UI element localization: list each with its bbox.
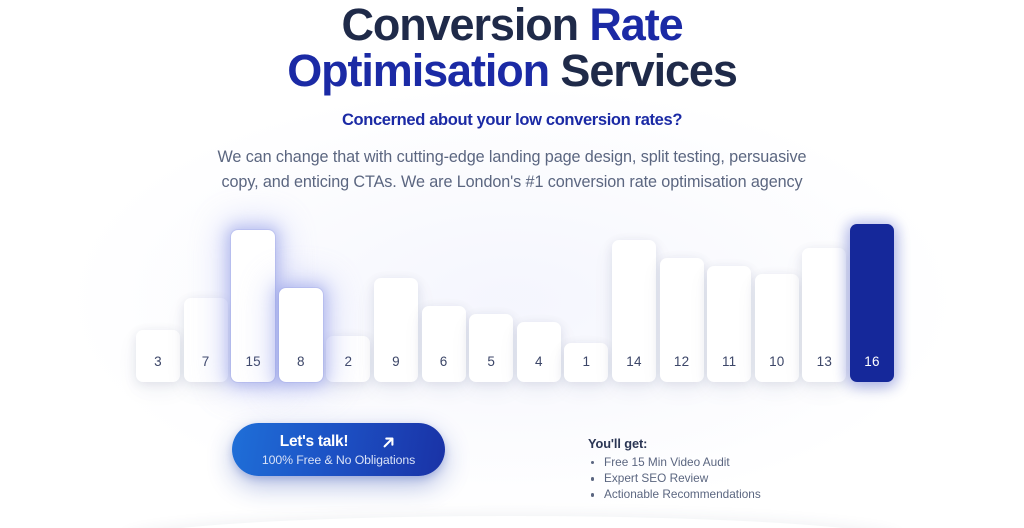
bar-12[interactable]: 12: [660, 258, 704, 382]
subheadline: Concerned about your low conversion rate…: [0, 111, 1024, 130]
bar-label: 10: [755, 354, 799, 369]
bar-label: 12: [660, 354, 704, 369]
arrow-up-right-icon: [380, 434, 397, 451]
headline-part-services: Services: [560, 45, 736, 96]
bar-11[interactable]: 14: [612, 240, 656, 382]
bar-7[interactable]: 6: [422, 306, 466, 382]
bar-label: 14: [612, 354, 656, 369]
bar-label: 8: [279, 354, 323, 369]
section-bottom-edge: [120, 516, 904, 528]
bar-label: 6: [422, 354, 466, 369]
bar-2[interactable]: 7: [184, 298, 228, 382]
bar-label: 4: [517, 354, 561, 369]
headline-line-2: Optimisation Services: [0, 48, 1024, 94]
hero-section: Conversion Rate Optimisation Services Co…: [0, 0, 1024, 528]
bar-3[interactable]: 15: [231, 230, 275, 382]
bar-label: 7: [184, 354, 228, 369]
lets-talk-button[interactable]: Let's talk! 100% Free & No Obligations: [232, 423, 445, 476]
bar-14[interactable]: 10: [755, 274, 799, 382]
headline-part-optimisation: Optimisation: [287, 45, 560, 96]
bar-label: 3: [136, 354, 180, 369]
list-item: Free 15 Min Video Audit: [588, 456, 818, 469]
bar-6[interactable]: 9: [374, 278, 418, 382]
cta-subtitle: 100% Free & No Obligations: [232, 453, 445, 467]
bar-label: 5: [469, 354, 513, 369]
bar-label: 1: [564, 354, 608, 369]
bar-16[interactable]: 16: [850, 224, 894, 382]
benefits-block: You'll get: Free 15 Min Video Audit Expe…: [588, 436, 818, 505]
headline-part-conversion: Conversion: [341, 0, 589, 50]
bar-label: 2: [326, 354, 370, 369]
cta-title-row: Let's talk!: [232, 433, 445, 451]
bar-1[interactable]: 3: [136, 330, 180, 382]
bar-chart-plot-area: 37158296541141211101316: [136, 218, 850, 382]
bar-label: 9: [374, 354, 418, 369]
cta-title: Let's talk!: [280, 433, 348, 451]
list-item: Expert SEO Review: [588, 472, 818, 485]
headline-part-rate: Rate: [589, 0, 682, 50]
benefits-list: Free 15 Min Video Audit Expert SEO Revie…: [588, 456, 818, 502]
list-item: Actionable Recommendations: [588, 488, 818, 501]
bar-label: 15: [231, 354, 275, 369]
benefits-title: You'll get:: [588, 436, 818, 451]
bar-4[interactable]: 8: [279, 288, 323, 382]
bar-13[interactable]: 11: [707, 266, 751, 382]
bar-10[interactable]: 1: [564, 343, 608, 382]
bar-label: 11: [707, 354, 751, 369]
bar-9[interactable]: 4: [517, 322, 561, 382]
bar-5[interactable]: 2: [326, 336, 370, 382]
hero-description: We can change that with cutting-edge lan…: [212, 145, 812, 194]
bar-8[interactable]: 5: [469, 314, 513, 382]
bar-label: 13: [802, 354, 846, 369]
bar-label: 16: [850, 354, 894, 369]
page-title: Conversion Rate Optimisation Services: [0, 2, 1024, 94]
bar-15[interactable]: 13: [802, 248, 846, 382]
